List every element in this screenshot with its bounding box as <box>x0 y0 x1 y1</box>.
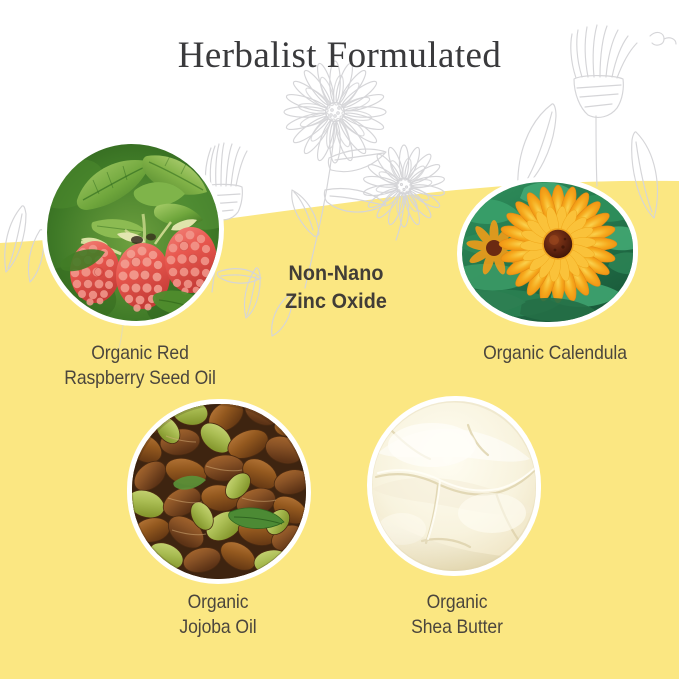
label-line-2: Shea Butter <box>372 615 543 640</box>
label-line-1: Organic Red <box>23 341 257 366</box>
label-line-2: Jojoba Oil <box>128 615 308 640</box>
red-raspberries-on-vine-photo <box>47 144 219 321</box>
ingredient-label-raspberry: Organic Red Raspberry Seed Oil <box>23 341 257 391</box>
raw-shea-butter-photo <box>372 401 536 571</box>
ingredient-label-shea: Organic Shea Butter <box>372 590 543 640</box>
orange-calendula-flower-photo <box>462 182 633 322</box>
callout-line-2: Zinc Oxide <box>242 288 430 316</box>
label-line-1: Organic <box>128 590 308 615</box>
label-line-1: Organic <box>372 590 543 615</box>
ingredient-label-calendula: Organic Calendula <box>452 341 659 366</box>
ingredient-image-raspberry <box>47 144 219 321</box>
product-ingredient-infographic: Herbalist Formulated Non-Nano Zinc Oxide <box>0 0 679 679</box>
ingredient-label-jojoba: Organic Jojoba Oil <box>128 590 308 640</box>
ingredient-image-shea <box>372 401 536 571</box>
ingredient-image-jojoba <box>132 404 306 579</box>
jojoba-seeds-photo <box>132 404 306 579</box>
non-nano-zinc-oxide-callout: Non-Nano Zinc Oxide <box>242 260 430 316</box>
botanical-line-art-decoration <box>0 0 679 679</box>
label-line-2: Raspberry Seed Oil <box>23 366 257 391</box>
ingredient-image-calendula <box>462 182 633 322</box>
page-title: Herbalist Formulated <box>0 34 679 77</box>
callout-line-1: Non-Nano <box>242 260 430 288</box>
label-line-1: Organic Calendula <box>452 341 659 366</box>
